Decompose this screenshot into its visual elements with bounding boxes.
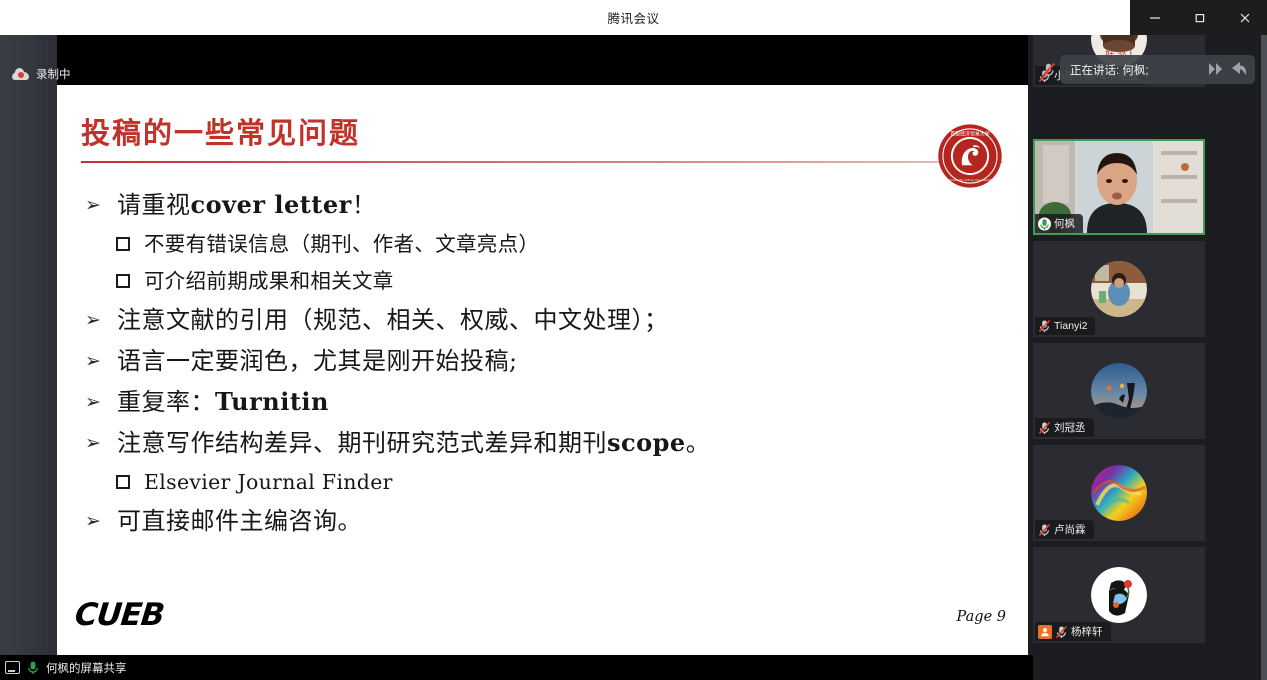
bullet-text: Elsevier Journal Finder xyxy=(144,464,393,500)
bullet-text: 可直接邮件主编咨询。 xyxy=(117,501,362,541)
bullet-item: ➢ 注意写作结构差异、期刊研究范式差异和期刊scope。 xyxy=(85,423,1005,463)
meeting-stage: 录制中 投稿的一些常见问题 首都经济贸易大学 Capital Universit… xyxy=(0,35,1267,680)
bullet-text: 可介绍前期成果和相关文章 xyxy=(144,263,394,299)
square-bullet-icon xyxy=(116,263,144,299)
minimize-icon xyxy=(1148,11,1162,25)
bullet-item: ➢ 语言一定要润色，尤其是刚开始投稿; xyxy=(85,341,1005,381)
close-button[interactable] xyxy=(1222,0,1267,35)
bullet-item: ➢ 重复率：Turnitin xyxy=(85,382,1005,422)
cueb-wordmark: CUEB xyxy=(73,597,166,633)
panel-action-icons xyxy=(1205,59,1249,79)
stage-left-strip xyxy=(0,35,57,680)
share-status-label: 何枫的屏幕共享 xyxy=(46,660,127,676)
bullet-item: ➢ 注意文献的引用（规范、相关、权威、中文处理）； xyxy=(85,300,1005,340)
avatar xyxy=(1091,261,1147,317)
slide-title: 投稿的一些常见问题 xyxy=(81,110,360,152)
university-logo-icon: 首都经济贸易大学 Capital University of Economics… xyxy=(937,123,1003,189)
participant-tile[interactable]: Tianyi2 xyxy=(1033,241,1205,337)
svg-text:Capital University of Economic: Capital University of Economics and Busi… xyxy=(939,178,1002,182)
maximize-button[interactable] xyxy=(1177,0,1222,35)
participant-tile[interactable]: 卢尚霖 xyxy=(1033,445,1205,541)
panel-scroll-edge[interactable] xyxy=(1261,35,1267,680)
participant-name-bar: Tianyi2 xyxy=(1035,317,1095,335)
bullet-item: 可介绍前期成果和相关文章 xyxy=(85,263,1005,299)
participant-tile[interactable]: 杨梓轩 xyxy=(1033,547,1205,643)
participant-tile-list: 好 邻 ! 小陈小陈喝水便盆 xyxy=(1033,35,1261,680)
participant-name-bar: 杨梓轩 xyxy=(1035,622,1111,641)
window-title: 腾讯会议 xyxy=(607,8,659,27)
maximize-icon xyxy=(1193,11,1207,25)
mic-active-icon xyxy=(26,660,40,675)
bullet-text: 不要有错误信息（期刊、作者、文章亮点） xyxy=(144,226,539,262)
arrow-bullet-icon: ➢ xyxy=(85,300,117,340)
participant-name-bar: 卢尚霖 xyxy=(1035,520,1094,539)
bullet-text: 语言一定要润色，尤其是刚开始投稿; xyxy=(117,341,518,381)
arrow-bullet-icon: ➢ xyxy=(85,185,117,225)
avatar xyxy=(1091,465,1147,521)
participant-name: 杨梓轩 xyxy=(1071,624,1103,639)
avatar xyxy=(1091,363,1147,419)
share-status-bar: 何枫的屏幕共享 xyxy=(0,655,1033,680)
bullet-item: ➢ 可直接邮件主编咨询。 xyxy=(85,501,1005,541)
chevrons-collapse-icon[interactable] xyxy=(1205,59,1227,79)
participant-name-bar: 刘冠丞 xyxy=(1035,418,1094,437)
speaking-now-bar: 正在讲话: 何枫; xyxy=(1060,55,1255,84)
bullet-text: 注意文献的引用（规范、相关、权威、中文处理）； xyxy=(117,300,669,340)
arrow-bullet-icon: ➢ xyxy=(85,341,117,381)
arrow-bullet-icon: ➢ xyxy=(85,501,117,541)
arrow-bullet-icon: ➢ xyxy=(85,382,117,422)
bullet-item: 不要有错误信息（期刊、作者、文章亮点） xyxy=(85,226,1005,262)
recording-indicator: 录制中 xyxy=(12,66,71,82)
window-controls xyxy=(1130,0,1267,35)
bullet-text: 注意写作结构差异、期刊研究范式差异和期刊scope。 xyxy=(117,423,710,463)
participant-name: 卢尚霖 xyxy=(1054,522,1086,537)
svg-text:首都经济贸易大学: 首都经济贸易大学 xyxy=(950,131,990,138)
speaking-bar-mic-icon xyxy=(1037,55,1059,84)
avatar xyxy=(1091,567,1147,623)
speaking-now-label: 正在讲话: 何枫; xyxy=(1070,62,1149,78)
participant-name: Tianyi2 xyxy=(1054,320,1087,332)
cloud-record-icon xyxy=(12,68,29,80)
mic-muted-icon xyxy=(1055,625,1068,639)
close-icon xyxy=(1238,11,1252,25)
participant-tile[interactable]: 刘冠丞 xyxy=(1033,343,1205,439)
screen-share-icon xyxy=(5,661,20,674)
bullet-text: 请重视cover letter！ xyxy=(117,185,376,225)
participant-name: 刘冠丞 xyxy=(1054,420,1086,435)
mic-muted-icon xyxy=(1038,421,1051,435)
square-bullet-icon xyxy=(116,464,144,500)
minimize-button[interactable] xyxy=(1132,0,1177,35)
recording-label: 录制中 xyxy=(36,66,71,82)
host-badge-icon xyxy=(1038,625,1052,639)
bullet-item: ➢ 请重视cover letter！ xyxy=(85,185,1005,225)
slide-page-number: Page 9 xyxy=(957,609,1006,625)
mic-muted-icon xyxy=(1038,319,1051,333)
bullet-item: Elsevier Journal Finder xyxy=(85,464,1005,500)
window-title-bar: 腾讯会议 xyxy=(0,0,1267,35)
title-underline xyxy=(81,161,1003,163)
participant-tile-active[interactable]: 何枫 xyxy=(1033,139,1205,235)
square-bullet-icon xyxy=(116,226,144,262)
mic-active-icon xyxy=(1038,217,1051,231)
slide-bullet-list: ➢ 请重视cover letter！ 不要有错误信息（期刊、作者、文章亮点） 可… xyxy=(85,185,1005,542)
arrow-bullet-icon: ➢ xyxy=(85,423,117,463)
shared-slide: 投稿的一些常见问题 首都经济贸易大学 Capital University of… xyxy=(57,85,1028,655)
participant-name: 何枫 xyxy=(1054,216,1075,231)
arrow-back-icon[interactable] xyxy=(1229,59,1249,79)
bullet-text: 重复率：Turnitin xyxy=(117,382,329,422)
participant-panel: 好 邻 ! 小陈小陈喝水便盆 xyxy=(1028,35,1267,680)
mic-muted-icon xyxy=(1038,523,1051,537)
participant-name-bar: 何枫 xyxy=(1035,214,1083,233)
